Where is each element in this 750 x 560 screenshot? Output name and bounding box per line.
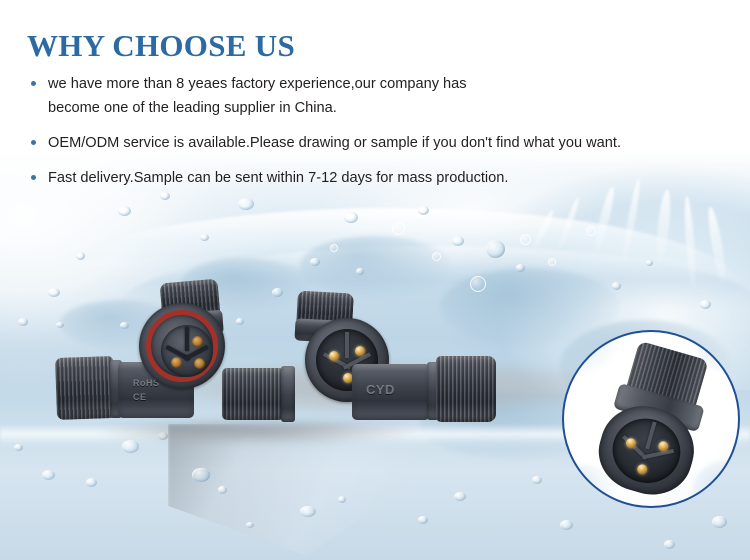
- left-connector-face: [139, 303, 225, 389]
- keyway-spoke: [185, 327, 189, 351]
- bullet-dot-icon: [31, 140, 36, 145]
- list-item-text: we have more than 8 yeaes factory experi…: [48, 76, 467, 116]
- left-contact-cavity: [161, 325, 213, 377]
- cyd-marking: CYD: [366, 382, 395, 397]
- contact-pin: [355, 346, 365, 356]
- list-item-text: Fast delivery.Sample can be sent within …: [48, 170, 508, 186]
- ce-marking: CE: [133, 392, 147, 402]
- list-item: we have more than 8 yeaes factory experi…: [27, 72, 497, 120]
- inset-water-wisp: [562, 330, 616, 374]
- center-coupling-nut: [222, 368, 284, 420]
- inset-contact-cavity: [605, 411, 688, 491]
- promo-banner: RoHS CE: [0, 0, 750, 560]
- left-cable-gland: [55, 356, 115, 420]
- bullet-dot-icon: [31, 81, 36, 86]
- closeup-inset: [562, 330, 740, 508]
- contact-pin: [636, 463, 648, 475]
- connector-shadow: [60, 418, 460, 452]
- feature-list: we have more than 8 yeaes factory experi…: [27, 72, 727, 201]
- inset-water-wisp: [692, 460, 740, 508]
- red-o-ring-seal: [146, 310, 218, 382]
- contact-socket: [192, 336, 203, 347]
- list-item: OEM/ODM service is available.Please draw…: [27, 131, 727, 155]
- bullet-dot-icon: [31, 175, 36, 180]
- contact-socket: [171, 357, 182, 368]
- contact-pin: [329, 351, 339, 361]
- right-cable-gland: [436, 356, 496, 422]
- keyway-ridge: [645, 421, 657, 449]
- center-coupling-ring: [281, 366, 295, 422]
- keyway-ridge: [642, 449, 674, 460]
- keyway-ridge: [345, 332, 349, 358]
- list-item-text: OEM/ODM service is available.Please draw…: [48, 135, 621, 151]
- contact-socket: [194, 358, 205, 369]
- list-item: Fast delivery.Sample can be sent within …: [27, 166, 727, 190]
- page-title: WHY CHOOSE US: [27, 28, 295, 64]
